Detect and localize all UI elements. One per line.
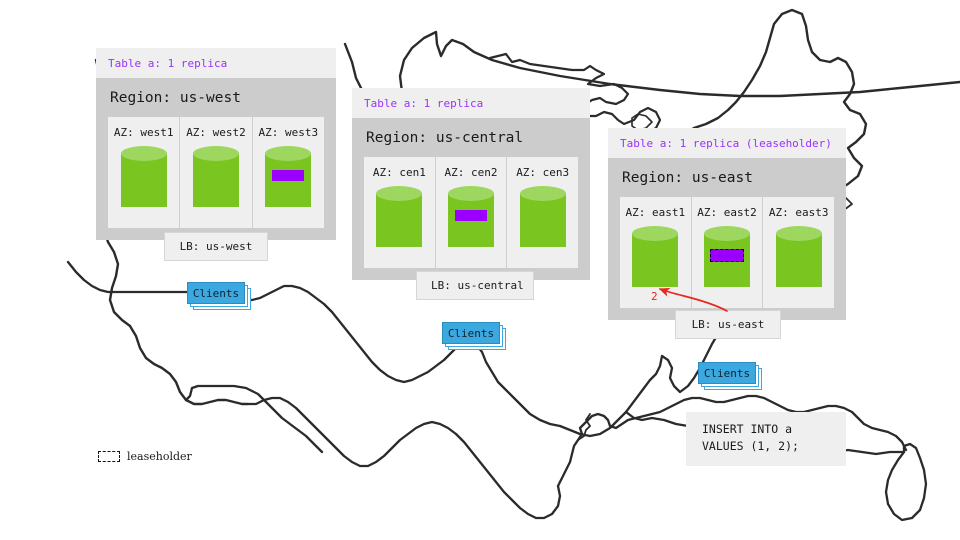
az-label-east1: AZ: east1: [620, 206, 691, 219]
dashed-rect-swatch-icon: [98, 451, 120, 462]
az-label-west1: AZ: west1: [108, 126, 179, 139]
arrow-step-number: 2: [651, 290, 658, 303]
node-cylinder-cen2[interactable]: [448, 186, 494, 254]
cylinder-body: [520, 193, 566, 247]
load-balancer-us-central[interactable]: LB: us-central: [416, 271, 534, 300]
legend-leaseholder: leaseholder: [98, 450, 192, 463]
cylinder-top: [265, 146, 311, 161]
range-replica-cen2: [455, 210, 487, 221]
az-label-east3: AZ: east3: [763, 206, 834, 219]
replica-status-us-central: Table a: 1 replica: [352, 88, 590, 118]
region-panel-us-central: Table a: 1 replica Region: us-central AZ…: [352, 88, 590, 280]
cylinder-body: [121, 153, 167, 207]
az-row-us-central: AZ: cen1 AZ: cen2: [364, 157, 578, 268]
az-label-cen2: AZ: cen2: [436, 166, 507, 179]
cylinder-top: [704, 226, 750, 241]
az-label-east2: AZ: east2: [692, 206, 763, 219]
clients-label: Clients: [187, 282, 245, 304]
range-replica-west3: [272, 170, 304, 181]
replica-status-us-west: Table a: 1 replica: [96, 48, 336, 78]
az-cell-west2[interactable]: AZ: west2: [180, 117, 252, 228]
clients-label: Clients: [442, 322, 500, 344]
region-title-us-west: Region: us-west: [108, 78, 324, 117]
clients-stack-us-west[interactable]: Clients: [187, 282, 245, 304]
cylinder-top: [776, 226, 822, 241]
clients-stack-us-east[interactable]: Clients: [698, 362, 756, 384]
az-cell-west3[interactable]: AZ: west3: [253, 117, 324, 228]
node-cylinder-cen1[interactable]: [376, 186, 422, 254]
az-label-cen1: AZ: cen1: [364, 166, 435, 179]
node-cylinder-west1[interactable]: [121, 146, 167, 214]
clients-stack-us-central[interactable]: Clients: [442, 322, 500, 344]
cylinder-top: [376, 186, 422, 201]
replica-status-us-east: Table a: 1 replica (leaseholder): [608, 128, 846, 158]
cylinder-top: [632, 226, 678, 241]
range-replica-leaseholder-east2: [710, 249, 744, 262]
region-body-us-west: Region: us-west AZ: west1 AZ: west2: [96, 78, 336, 240]
region-title-us-east: Region: us-east: [620, 158, 834, 197]
az-cell-cen2[interactable]: AZ: cen2: [436, 157, 508, 268]
region-panel-us-west: Table a: 1 replica Region: us-west AZ: w…: [96, 48, 336, 240]
az-cell-cen3[interactable]: AZ: cen3: [507, 157, 578, 268]
region-panel-us-east: Table a: 1 replica (leaseholder) Region:…: [608, 128, 846, 320]
cylinder-body: [632, 233, 678, 287]
cylinder-top: [193, 146, 239, 161]
az-cell-east3[interactable]: AZ: east3: [763, 197, 834, 308]
cylinder-body: [776, 233, 822, 287]
region-body-us-east: Region: us-east AZ: east1 AZ: east2: [608, 158, 846, 320]
az-cell-east2[interactable]: AZ: east2: [692, 197, 764, 308]
region-body-us-central: Region: us-central AZ: cen1 AZ: cen2: [352, 118, 590, 280]
node-cylinder-east1[interactable]: [632, 226, 678, 294]
diagram-canvas: Table a: 1 replica Region: us-west AZ: w…: [0, 0, 960, 540]
az-cell-cen1[interactable]: AZ: cen1: [364, 157, 436, 268]
az-label-cen3: AZ: cen3: [507, 166, 578, 179]
az-label-west2: AZ: west2: [180, 126, 251, 139]
node-cylinder-west2[interactable]: [193, 146, 239, 214]
node-cylinder-east3[interactable]: [776, 226, 822, 294]
clients-label: Clients: [698, 362, 756, 384]
cylinder-top: [448, 186, 494, 201]
load-balancer-us-west[interactable]: LB: us-west: [164, 232, 268, 261]
region-title-us-central: Region: us-central: [364, 118, 578, 157]
load-balancer-us-east[interactable]: LB: us-east: [675, 310, 781, 339]
legend-label: leaseholder: [127, 450, 192, 463]
cylinder-top: [121, 146, 167, 161]
node-cylinder-east2[interactable]: [704, 226, 750, 294]
az-label-west3: AZ: west3: [253, 126, 324, 139]
sql-statement-box: INSERT INTO a VALUES (1, 2);: [686, 412, 846, 466]
node-cylinder-west3[interactable]: [265, 146, 311, 214]
cylinder-top: [520, 186, 566, 201]
az-row-us-west: AZ: west1 AZ: west2 AZ: [108, 117, 324, 228]
cylinder-body: [193, 153, 239, 207]
node-cylinder-cen3[interactable]: [520, 186, 566, 254]
cylinder-body: [376, 193, 422, 247]
az-cell-west1[interactable]: AZ: west1: [108, 117, 180, 228]
